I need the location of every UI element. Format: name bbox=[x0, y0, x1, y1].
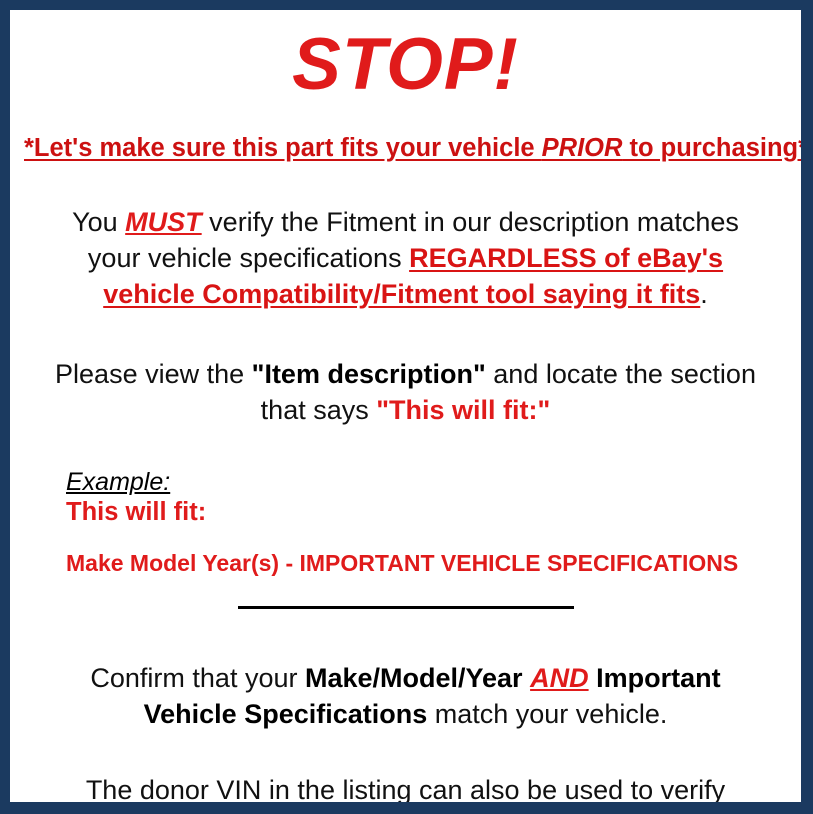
horizontal-divider bbox=[238, 606, 574, 609]
example-label: Example: bbox=[66, 469, 787, 495]
example-section: Example: This will fit: Make Model Year(… bbox=[24, 469, 787, 577]
subtitle-after: to purchasing* bbox=[622, 134, 808, 162]
donor-vin-paragraph: The donor VIN in the listing can also be… bbox=[24, 773, 787, 814]
must-verify-paragraph: You MUST verify the Fitment in our descr… bbox=[24, 205, 787, 313]
subtitle-before: *Let's make sure this part fits your veh… bbox=[24, 134, 542, 162]
confirm-paragraph: Confirm that your Make/Model/Year AND Im… bbox=[24, 661, 787, 733]
item-description-emphasis: "Item description" bbox=[252, 359, 486, 389]
notice-subtitle: *Let's make sure this part fits your veh… bbox=[24, 134, 787, 163]
page-title: STOP! bbox=[24, 28, 787, 101]
divider-row bbox=[24, 599, 787, 617]
desc-seg-1: Please view the bbox=[55, 359, 252, 389]
confirm-seg-3 bbox=[589, 663, 597, 693]
confirm-seg-1: Confirm that your bbox=[90, 663, 305, 693]
notice-content: STOP! *Let's make sure this part fits yo… bbox=[10, 28, 801, 814]
must-seg-3: . bbox=[700, 279, 708, 309]
example-fitment-line: Make Model Year(s) - IMPORTANT VEHICLE S… bbox=[66, 550, 787, 577]
confirm-seg-2 bbox=[523, 663, 531, 693]
confirm-seg-4: match your vehicle. bbox=[427, 699, 667, 729]
example-heading: This will fit: bbox=[66, 497, 787, 528]
this-will-fit-quote: "This will fit:" bbox=[376, 395, 550, 425]
subtitle-emphasis-prior: PRIOR bbox=[542, 134, 623, 162]
and-emphasis: AND bbox=[530, 663, 589, 693]
must-seg-1: You bbox=[72, 207, 125, 237]
make-model-year-emphasis: Make/Model/Year bbox=[305, 663, 523, 693]
item-description-paragraph: Please view the "Item description" and l… bbox=[24, 357, 787, 429]
must-emphasis: MUST bbox=[125, 207, 202, 237]
fitment-notice-card: STOP! *Let's make sure this part fits yo… bbox=[0, 0, 813, 814]
